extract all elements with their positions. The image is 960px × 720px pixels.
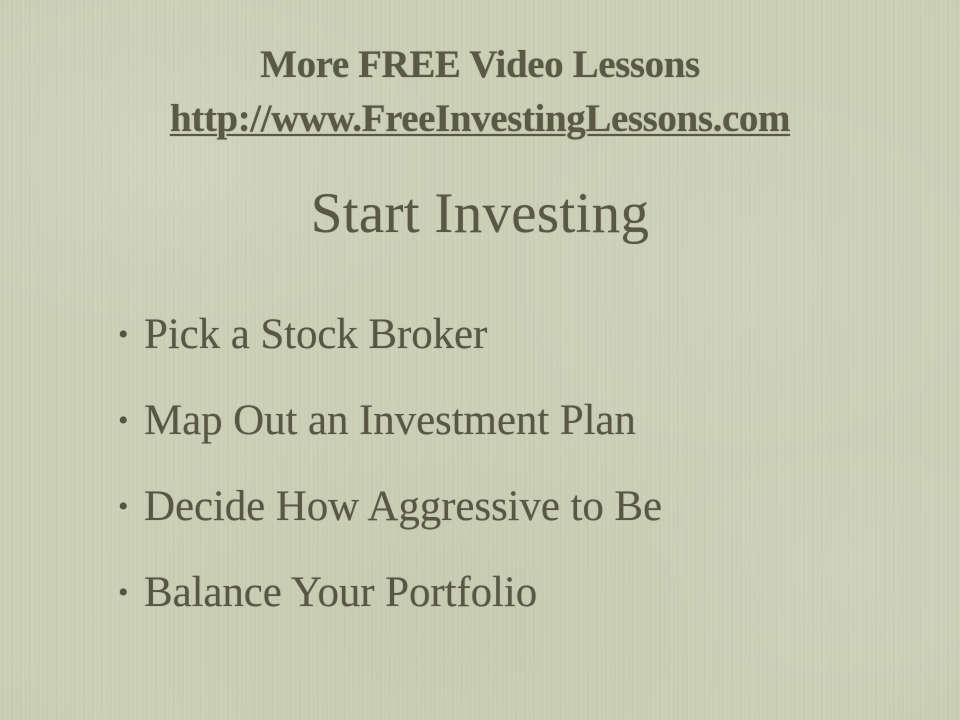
bullet-dot-icon: • (118, 320, 144, 350)
bullet-dot-icon: • (118, 578, 144, 608)
list-item-label: Pick a Stock Broker (144, 313, 487, 356)
list-item-label: Balance Your Portfolio (144, 571, 537, 614)
bullet-dot-icon: • (118, 406, 144, 436)
header-tagline: More FREE Video Lessons (0, 38, 960, 92)
list-item-label: Decide How Aggressive to Be (144, 485, 662, 528)
list-item: • Map Out an Investment Plan (118, 399, 918, 485)
page-title: Start Investing (0, 178, 960, 250)
video-slide: More FREE Video Lessons http://www.FreeI… (0, 0, 960, 720)
bullet-list: • Pick a Stock Broker • Map Out an Inves… (118, 313, 918, 657)
header-block: More FREE Video Lessons http://www.FreeI… (0, 38, 960, 146)
list-item-label: Map Out an Investment Plan (144, 399, 636, 442)
slide-content: More FREE Video Lessons http://www.FreeI… (0, 0, 960, 720)
header-url-link[interactable]: http://www.FreeInvestingLessons.com (0, 92, 960, 146)
list-item: • Pick a Stock Broker (118, 313, 918, 399)
list-item: • Balance Your Portfolio (118, 571, 918, 657)
list-item: • Decide How Aggressive to Be (118, 485, 918, 571)
bullet-dot-icon: • (118, 492, 144, 522)
